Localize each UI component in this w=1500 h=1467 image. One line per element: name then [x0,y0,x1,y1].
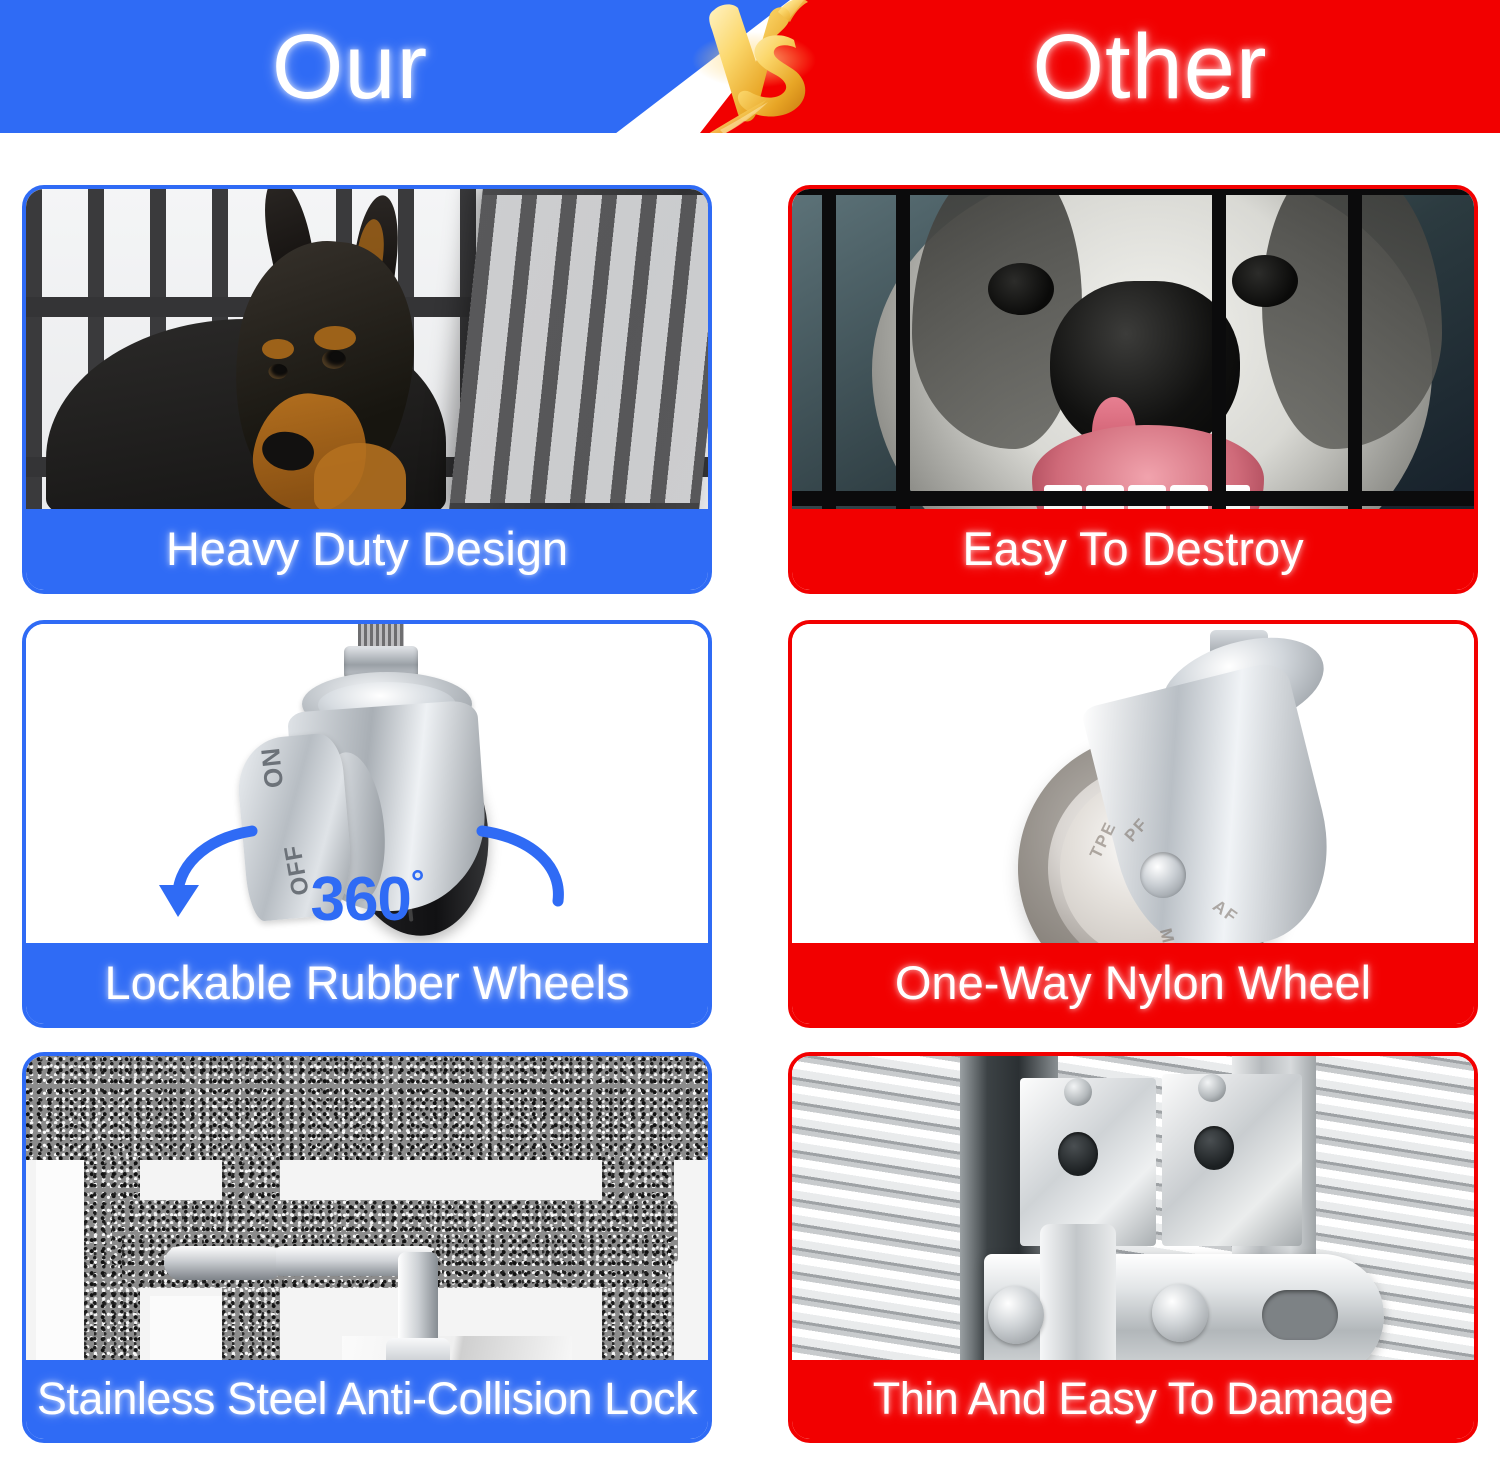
photo-nylon-caster: TPE PF AF MAX [792,624,1474,943]
comparison-header: Our Other [0,0,1500,133]
comparison-grid: Heavy Duty Design [0,185,1500,1443]
vs-flame-icon [690,0,820,133]
caption-other-row1: Easy To Destroy [792,509,1474,590]
card-ours-anti-collision-lock[interactable]: Stainless Steel Anti-Collision Lock [22,1052,712,1443]
photo-husky-biting-bars [792,189,1474,509]
comparison-row-2: ON OFF 360° [0,620,1500,1028]
rotation-value: 360 [310,865,410,934]
card-other-one-way-nylon-wheel[interactable]: TPE PF AF MAX One-Way Nylon Wheel [788,620,1478,1028]
photo-thin-metal-latch [792,1056,1474,1360]
caption-other-row2: One-Way Nylon Wheel [792,943,1474,1024]
photo-doberman-cage [26,189,708,509]
caption-ours-row1: Heavy Duty Design [26,509,708,590]
photo-lockable-caster: ON OFF 360° [26,624,708,943]
rotation-360-label: 360° [26,866,708,931]
header-title-ours: Our [0,8,700,126]
card-ours-heavy-duty-design[interactable]: Heavy Duty Design [22,185,712,594]
card-other-easy-to-destroy[interactable]: Easy To Destroy [788,185,1478,594]
header-title-other: Other [800,8,1500,126]
caption-other-row3: Thin And Easy To Damage [792,1360,1474,1439]
card-other-thin-easy-damage[interactable]: Thin And Easy To Damage [788,1052,1478,1443]
degree-symbol: ° [411,864,424,902]
comparison-row-1: Heavy Duty Design [0,185,1500,594]
card-ours-lockable-rubber-wheels[interactable]: ON OFF 360° [22,620,712,1028]
comparison-row-3: Stainless Steel Anti-Collision Lock [0,1052,1500,1443]
caption-ours-row3: Stainless Steel Anti-Collision Lock [26,1360,708,1439]
photo-stainless-bolt-lock [26,1056,708,1360]
caption-ours-row2: Lockable Rubber Wheels [26,943,708,1024]
brake-on-label: ON [255,745,290,789]
